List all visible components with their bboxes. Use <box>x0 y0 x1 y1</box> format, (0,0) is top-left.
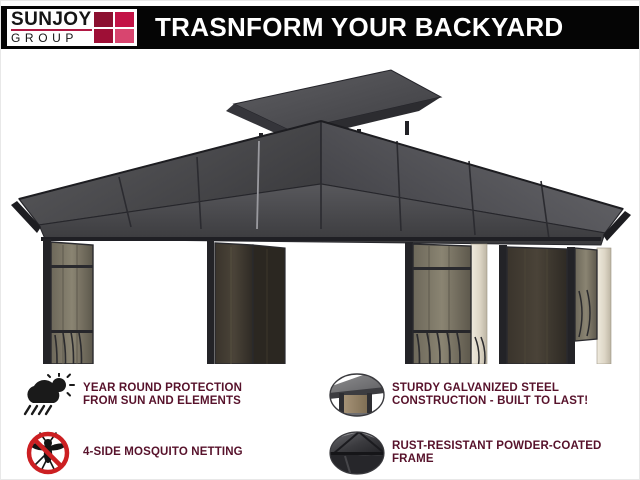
feature-item-netting: 4-SIDE MOSQUITO NETTING <box>17 425 326 480</box>
feature-item-frame: RUST-RESISTANT POWDER-COATED FRAME <box>326 425 635 480</box>
feature-item-steel: STURDY GALVANIZED STEEL CONSTRUCTION - B… <box>326 367 635 423</box>
logo-name-top: SUNJOY <box>11 11 92 28</box>
gazebo-product-image <box>1 49 640 364</box>
gazebo-illustration <box>1 49 640 364</box>
galvanized-steel-corner-icon <box>326 372 388 418</box>
feature-label-netting: 4-SIDE MOSQUITO NETTING <box>83 446 243 460</box>
promo-banner-page: SUNJOY GROUP TRASNFORM YOUR BACKYARD <box>0 0 640 480</box>
feature-label-line: YEAR ROUND PROTECTION <box>83 382 242 396</box>
feature-label-line: 4-SIDE MOSQUITO NETTING <box>83 446 243 460</box>
powder-coated-roof-icon <box>326 430 388 476</box>
feature-label-weather: YEAR ROUND PROTECTION FROM SUN AND ELEME… <box>83 382 242 409</box>
square-bottom-left <box>94 29 113 44</box>
feature-label-line: FROM SUN AND ELEMENTS <box>83 395 242 409</box>
header-banner: SUNJOY GROUP TRASNFORM YOUR BACKYARD <box>1 6 640 49</box>
square-top-left <box>94 12 113 27</box>
square-bottom-right <box>115 29 134 44</box>
logo-square-grid <box>92 10 136 45</box>
no-mosquito-icon <box>17 430 79 476</box>
banner-headline: TRASNFORM YOUR BACKYARD <box>155 12 563 43</box>
feature-label-line: FRAME <box>392 453 602 467</box>
sunjoy-group-logo: SUNJOY GROUP <box>7 9 137 46</box>
feature-label-line: CONSTRUCTION - BUILT TO LAST! <box>392 395 588 409</box>
feature-list: YEAR ROUND PROTECTION FROM SUN AND ELEME… <box>1 367 640 480</box>
feature-item-weather: YEAR ROUND PROTECTION FROM SUN AND ELEME… <box>17 367 326 423</box>
logo-wordmark: SUNJOY GROUP <box>8 10 92 45</box>
feature-label-frame: RUST-RESISTANT POWDER-COATED FRAME <box>392 440 602 467</box>
feature-label-line: RUST-RESISTANT POWDER-COATED <box>392 440 602 454</box>
logo-name-bottom: GROUP <box>11 32 92 45</box>
sun-cloud-rain-icon <box>17 372 79 418</box>
feature-label-line: STURDY GALVANIZED STEEL <box>392 382 588 396</box>
feature-label-steel: STURDY GALVANIZED STEEL CONSTRUCTION - B… <box>392 382 588 409</box>
square-top-right <box>115 12 134 27</box>
